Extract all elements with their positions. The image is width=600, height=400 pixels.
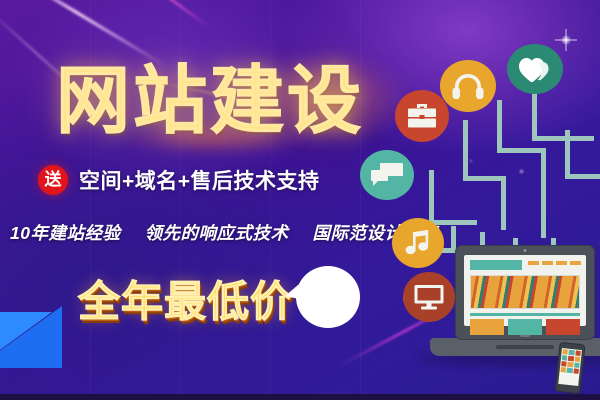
chat-bubbles-icon — [360, 150, 414, 200]
circuit-wire — [463, 120, 468, 180]
mockup-card-row — [470, 319, 580, 335]
laptop-mockup — [455, 245, 595, 340]
phone-tile — [561, 367, 567, 373]
mockup-hero-banner — [470, 275, 580, 309]
mockup-header-bar — [470, 260, 522, 270]
phone-tile — [574, 362, 580, 368]
phone-screen-content — [558, 348, 582, 386]
circuit-wire — [429, 170, 434, 224]
briefcase-icon — [395, 90, 449, 142]
bottom-bar — [0, 394, 600, 400]
phone-tile — [574, 356, 580, 362]
phone-tile — [562, 349, 568, 355]
phone-tile — [568, 356, 574, 362]
phone-tile — [567, 362, 573, 368]
phone-tile — [562, 355, 568, 361]
mockup-divider — [470, 313, 580, 316]
circuit-wire — [463, 176, 505, 181]
mockup-card — [546, 319, 580, 335]
light-streak-icon — [3, 0, 167, 68]
laptop-screen-content — [464, 255, 586, 326]
mockup-card — [470, 319, 504, 335]
phone-tile — [575, 350, 581, 356]
page-title: 网站建设 — [56, 62, 364, 140]
music-note-icon — [392, 218, 444, 268]
circuit-wire — [497, 100, 502, 152]
mockup-nav-item — [528, 261, 539, 265]
feature-item: 领先的响应式技术 — [144, 220, 288, 245]
phone-tile — [567, 368, 573, 374]
pyramid-face-front — [0, 312, 52, 366]
circuit-wire — [497, 148, 545, 153]
gift-badge: 送 — [38, 165, 68, 195]
phone-tile — [569, 350, 575, 356]
circuit-wire — [501, 176, 506, 230]
gift-row: 送 空间+域名+售后技术支持 — [38, 165, 320, 195]
gift-text: 空间+域名+售后技术支持 — [79, 165, 320, 195]
webcam-icon — [524, 249, 527, 252]
circuit-wire — [565, 174, 600, 179]
monitor-icon — [403, 272, 455, 322]
hearts-icon — [507, 44, 563, 94]
phone-tile — [561, 361, 567, 367]
price-slogan: 全年最低价 — [78, 268, 293, 329]
phone-tile — [573, 368, 579, 374]
smartphone-mockup — [554, 342, 585, 394]
promo-banner: 网站建设 送 空间+域名+售后技术支持 10年建站经验 领先的响应式技术 国际范… — [0, 0, 600, 400]
mockup-nav-item — [556, 261, 567, 265]
mockup-nav — [528, 261, 581, 265]
feature-list: 10年建站经验 领先的响应式技术 国际范设计风格 — [10, 220, 438, 245]
speech-bubble — [296, 266, 360, 328]
circuit-wire — [541, 148, 546, 238]
mockup-nav-item — [570, 261, 581, 265]
headphones-icon — [440, 60, 496, 112]
circuit-wire — [532, 136, 594, 141]
feature-item: 10年建站经验 — [10, 220, 120, 245]
circuit-wire — [565, 130, 570, 178]
mockup-nav-item — [542, 261, 553, 265]
light-streak-icon — [120, 0, 210, 28]
mockup-card — [508, 319, 542, 335]
